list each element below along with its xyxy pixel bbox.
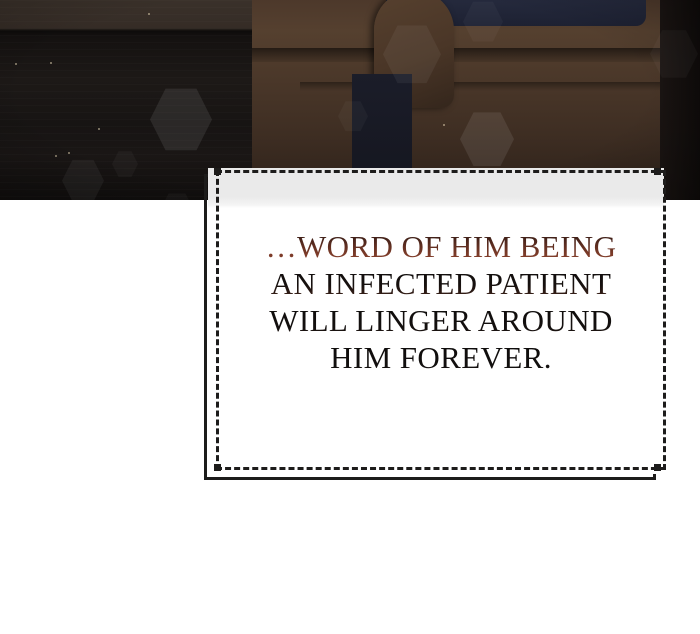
speech-box: …WORD OF HIM BEING AN INFECTED PATIENT W… — [204, 168, 664, 480]
dialogue-line-1: …WORD OF HIM BEING — [216, 228, 666, 265]
dialogue-line-4: HIM FOREVER. — [216, 339, 666, 376]
dialogue-line-2: AN INFECTED PATIENT — [216, 265, 666, 302]
corner-tick-bottom-right — [654, 464, 661, 471]
speech-box-surface: …WORD OF HIM BEING AN INFECTED PATIENT W… — [208, 168, 664, 474]
corner-tick-top-left — [214, 168, 221, 175]
corner-tick-top-right — [654, 168, 661, 175]
comic-page: …WORD OF HIM BEING AN INFECTED PATIENT W… — [0, 0, 700, 634]
dialogue-text: …WORD OF HIM BEING AN INFECTED PATIENT W… — [216, 228, 666, 376]
dialogue-line-3: WILL LINGER AROUND — [216, 302, 666, 339]
corner-tick-bottom-left — [214, 464, 221, 471]
